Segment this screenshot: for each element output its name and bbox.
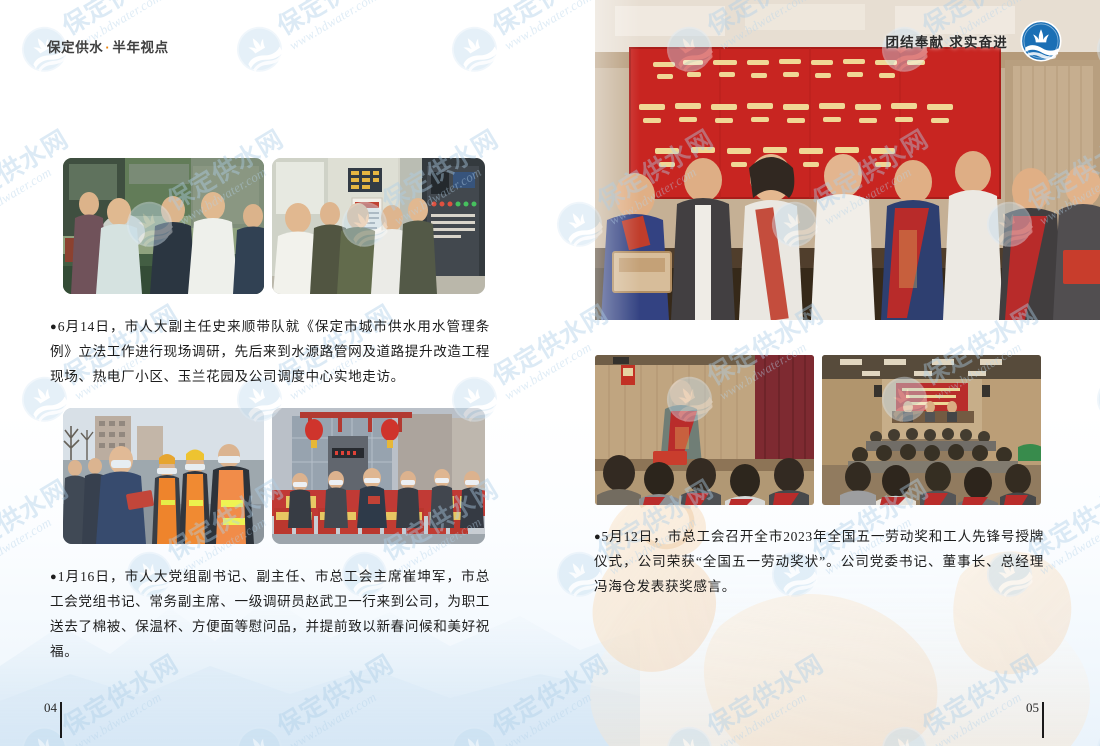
header-publication-title: 保定供水 [47,40,103,55]
caption-bullet: ● [50,321,58,333]
caption-text: 6月14日，市人大副主任史来顺带队就《保定市城市供水用水管理条例》立法工作进行现… [50,319,490,384]
folio-rule [60,702,62,738]
company-slogan: 团结奉献 求实奋进 [885,31,1008,51]
caption-winter-visit: ●1月16日，市人大党组副书记、副主任、市总工会主席崔坤军，市总工会党组书记、常… [50,564,490,665]
page-header-right: 团结奉献 求实奋进 [885,20,1062,62]
page-header-left: 保定供水·半年视点 [47,36,169,56]
baoding-water-logo-icon [1020,20,1062,62]
photo-inspection-group-outdoor [63,158,264,294]
photo-company-gate-ceremony [272,408,485,544]
page-number: 05 [1026,701,1039,738]
header-section-title: 半年视点 [112,40,168,55]
magazine-spread: 保定供水·半年视点 团结奉献 求实奋进 ●6月14日，市人大副主任史来顺带队就《… [0,0,1100,746]
photo-conference-audience [822,355,1041,505]
caption-inspection: ●6月14日，市人大副主任史来顺带队就《保定市城市供水用水管理条例》立法工作进行… [50,314,490,389]
caption-text: 1月16日，市人大党组副书记、副主任、市总工会主席崔坤军，市总工会党组书记、常务… [50,569,490,659]
caption-text: 5月12日，市总工会召开全市2023年全国五一劳动奖和工人先锋号授牌仪式，公司荣… [594,529,1044,594]
caption-bullet: ● [594,531,602,543]
photo-control-room-visit [272,158,485,294]
photo-speech-at-ceremony [595,355,814,505]
folio-rule [1042,702,1044,738]
caption-bullet: ● [50,571,58,583]
header-separator-dot: · [103,40,112,55]
page-number: 04 [44,701,57,738]
caption-award-ceremony: ●5月12日，市总工会召开全市2023年全国五一劳动奖和工人先锋号授牌仪式，公司… [594,524,1044,599]
photo-winter-gift-handover [63,408,264,544]
page-folio-left: 04 [44,701,62,738]
page-folio-right: 05 [1026,701,1044,738]
